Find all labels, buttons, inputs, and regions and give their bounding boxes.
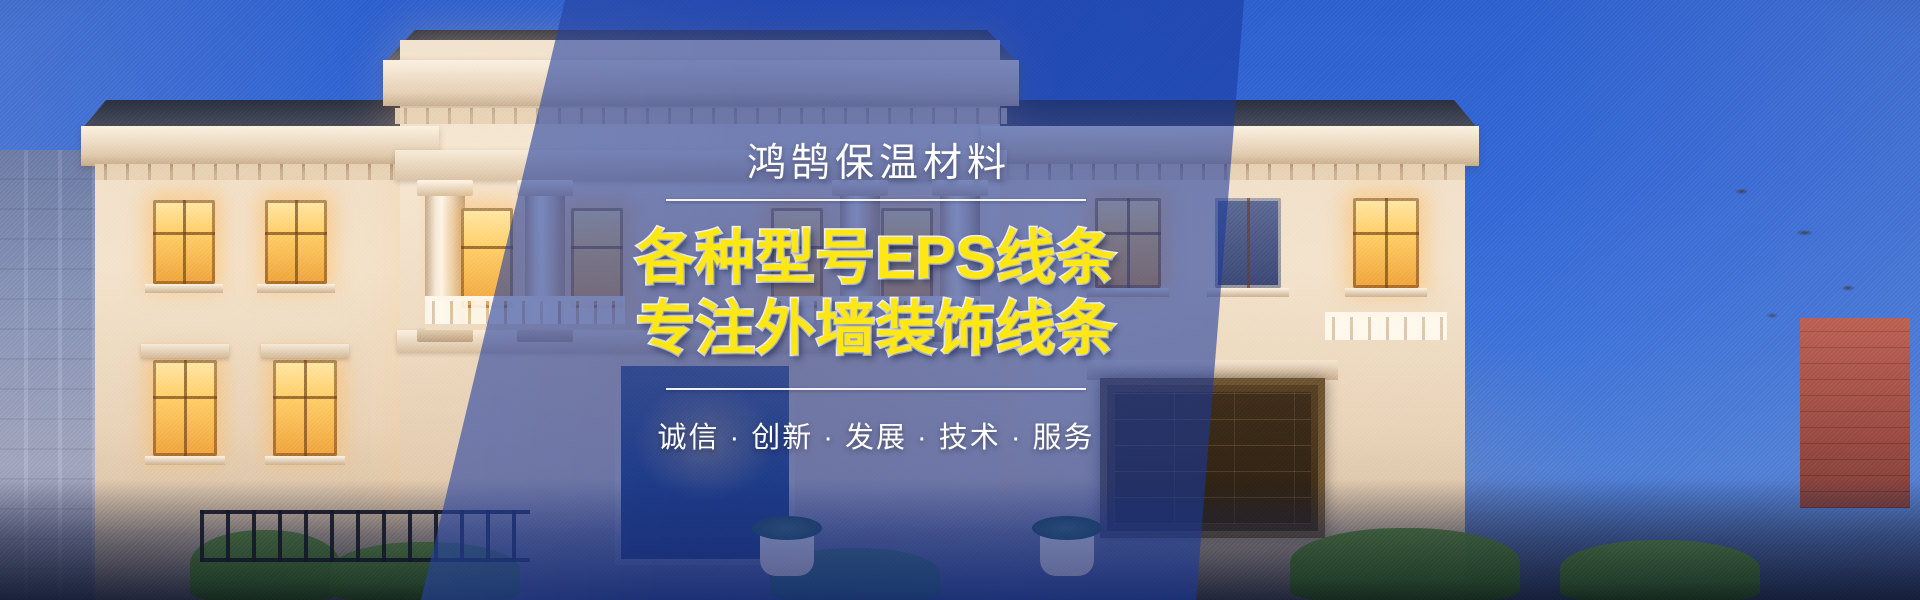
- window-mullion-horizontal: [1353, 232, 1419, 235]
- window-pediment-lower-left-1: [141, 344, 229, 358]
- window-sill-lower-left-2: [265, 456, 345, 465]
- window-sill-upper-right-3: [1345, 288, 1427, 297]
- window-mullion-vertical: [304, 360, 307, 456]
- window-sill-upper-right-2: [1207, 288, 1289, 297]
- window-center-upper-1: [461, 208, 513, 308]
- window-upper-right-3: [1353, 198, 1419, 288]
- window-mullion-horizontal: [461, 246, 513, 249]
- window-mullion-vertical: [1247, 198, 1250, 288]
- divider-top: [666, 199, 1086, 201]
- cornice-left-wing: [81, 126, 439, 166]
- shrub-right-2: [1560, 540, 1760, 600]
- window-sill-upper-left-2: [257, 284, 335, 293]
- headline-line-2: 专注外墙装饰线条: [635, 294, 1116, 365]
- window-mullion-vertical: [184, 360, 187, 456]
- shrub-right-1: [1290, 528, 1520, 600]
- headline-line-1: 各种型号EPS线条: [635, 223, 1116, 294]
- window-sill-upper-left-1: [145, 284, 223, 293]
- window-upper-right-2: [1215, 198, 1281, 288]
- window-upper-left-2: [265, 200, 327, 284]
- window-mullion-horizontal: [273, 396, 337, 399]
- window-sill-lower-left-1: [145, 456, 225, 465]
- tagline: 诚信 · 创新 · 发展 · 技术 · 服务: [657, 414, 1094, 456]
- window-lower-left-1: [153, 360, 217, 456]
- window-mullion-vertical: [295, 200, 298, 284]
- window-mullion-vertical: [183, 200, 186, 284]
- column-base-center-1: [417, 328, 473, 342]
- divider-bottom: [666, 388, 1086, 390]
- window-upper-left-1: [153, 200, 215, 284]
- company-name: 鸿鹄保温材料: [741, 144, 1011, 183]
- balustrade-right-wing: [1325, 312, 1447, 346]
- tree-branch: [1700, 150, 1890, 380]
- window-mullion-horizontal: [153, 396, 217, 399]
- window-mullion-horizontal: [153, 232, 215, 235]
- promo-banner: 鸿鹄保温材料 各种型号EPS线条 专注外墙装饰线条 诚信 · 创新 · 发展 ·…: [0, 0, 1920, 600]
- window-lower-left-2: [273, 360, 337, 456]
- column-capital-center-1: [417, 180, 473, 196]
- iron-railing: [200, 510, 530, 562]
- window-mullion-vertical: [1385, 198, 1388, 288]
- dentil-row-left: [95, 164, 425, 180]
- window-pediment-lower-left-2: [261, 344, 349, 358]
- window-mullion-horizontal: [265, 232, 327, 235]
- headline: 各种型号EPS线条 专注外墙装饰线条: [635, 223, 1116, 365]
- banner-content: 鸿鹄保温材料 各种型号EPS线条 专注外墙装饰线条 诚信 · 创新 · 发展 ·…: [556, 0, 1196, 600]
